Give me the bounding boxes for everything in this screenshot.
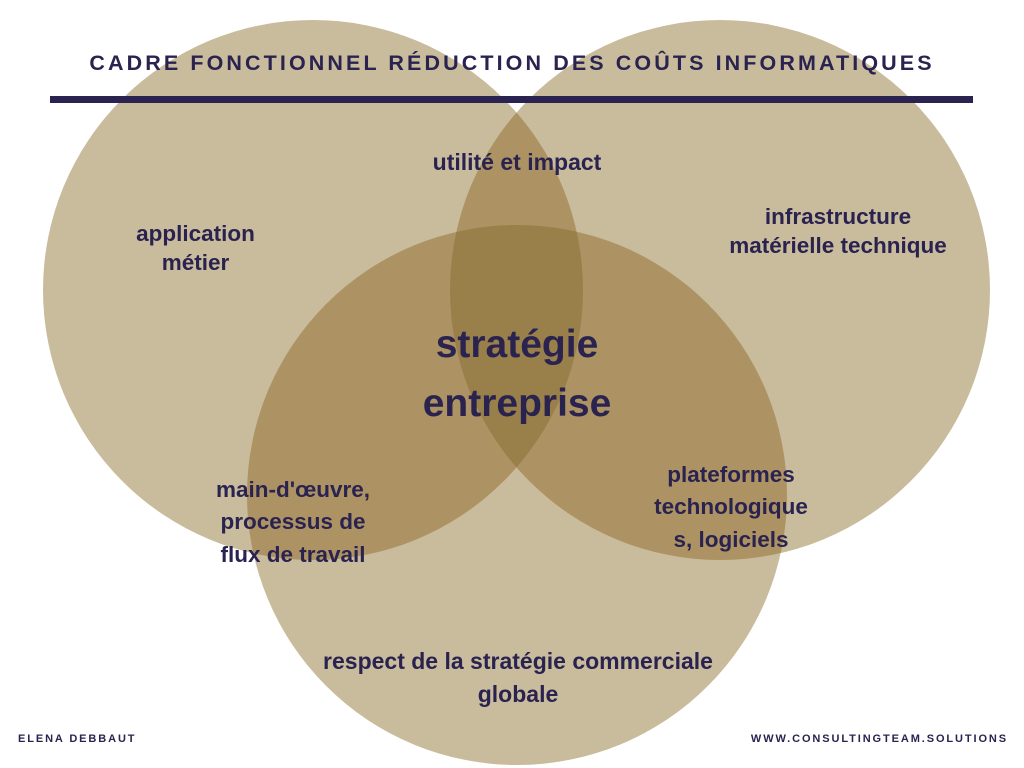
- venn-label-bottom-left-overlap-line-1: main-d'œuvre,: [182, 474, 404, 506]
- venn-label-infrastructure-line-2: matérielle technique: [688, 232, 988, 261]
- venn-label-strategie-commerciale-line-1: respect de la stratégie commerciale: [268, 645, 768, 678]
- venn-label-bottom-left-overlap: main-d'œuvre, processus de flux de trava…: [182, 474, 404, 571]
- footer-author: ELENA DEBBAUT: [18, 733, 136, 745]
- venn-label-center-strategie-entreprise: stratégie entreprise: [352, 316, 682, 433]
- footer: ELENA DEBBAUT WWW.CONSULTINGTEAM.SOLUTIO…: [0, 724, 1024, 768]
- page-title-text: CADRE FONCTIONNEL RÉDUCTION DES COÛTS IN…: [0, 52, 1024, 76]
- venn-label-application-metier-line-1: application: [72, 220, 319, 249]
- venn-label-infrastructure: infrastructure matérielle technique: [688, 203, 988, 261]
- venn-label-center-line-2: entreprise: [352, 375, 682, 434]
- venn-label-strategie-commerciale-line-2: globale: [268, 678, 768, 711]
- venn-label-bottom-right-overlap-line-1: plateformes: [633, 459, 829, 491]
- venn-label-top-overlap-line-1: utilité et impact: [362, 148, 672, 177]
- title-underline-rule: [50, 96, 973, 103]
- venn-label-bottom-left-overlap-line-2: processus de: [182, 506, 404, 538]
- venn-label-bottom-right-overlap-line-3: s, logiciels: [633, 524, 829, 556]
- venn-label-top-overlap: utilité et impact: [362, 148, 672, 177]
- venn-label-strategie-commerciale: respect de la stratégie commerciale glob…: [268, 645, 768, 710]
- venn-label-bottom-right-overlap-line-2: technologique: [633, 491, 829, 523]
- diagram-canvas: CADRE FONCTIONNEL RÉDUCTION DES COÛTS IN…: [0, 0, 1024, 768]
- venn-label-bottom-right-overlap: plateformes technologique s, logiciels: [633, 459, 829, 556]
- venn-label-center-line-1: stratégie: [352, 316, 682, 375]
- page-title: CADRE FONCTIONNEL RÉDUCTION DES COÛTS IN…: [0, 52, 1024, 76]
- venn-label-infrastructure-line-1: infrastructure: [688, 203, 988, 232]
- venn-label-application-metier-line-2: métier: [72, 249, 319, 278]
- venn-label-application-metier: application métier: [72, 220, 319, 278]
- footer-website: WWW.CONSULTINGTEAM.SOLUTIONS: [751, 733, 1008, 745]
- venn-label-bottom-left-overlap-line-3: flux de travail: [182, 539, 404, 571]
